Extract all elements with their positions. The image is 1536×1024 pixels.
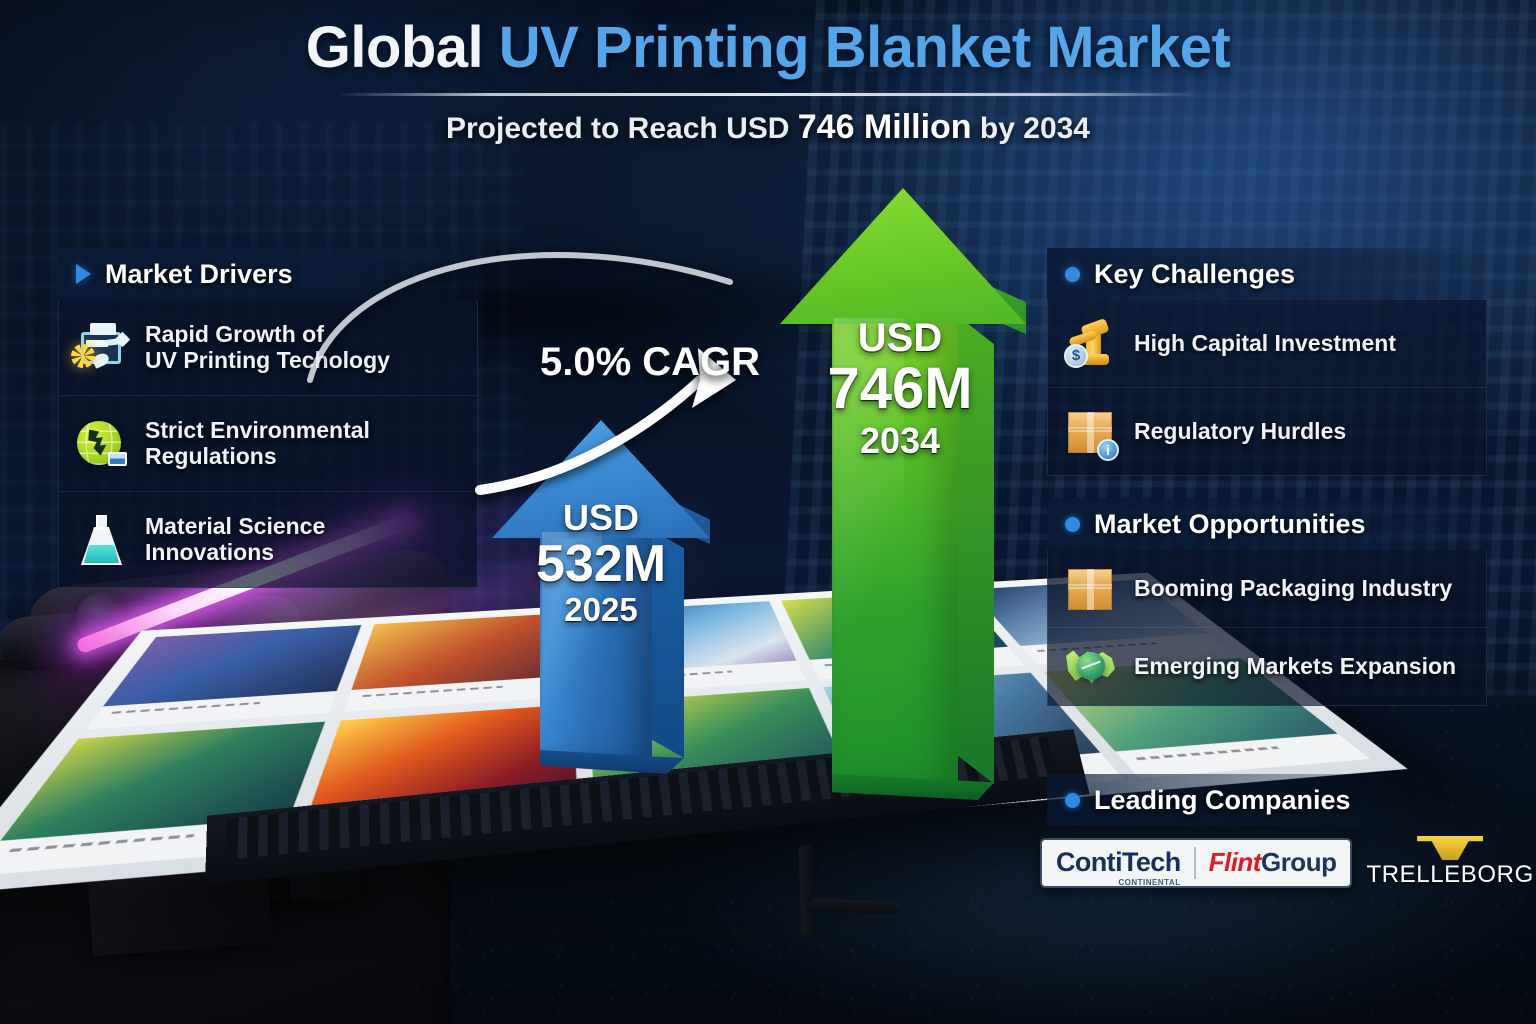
- challenge-label-1: High Capital Investment: [1134, 331, 1396, 357]
- driver-line-1a: Rapid Growth of: [145, 321, 324, 347]
- globe-icon: [73, 416, 129, 472]
- world-map-icon: [1062, 639, 1118, 695]
- challenge-row-2[interactable]: i Regulatory Hurdles: [1048, 388, 1486, 476]
- contitech-logo: ContiTech CONTINENTAL: [1056, 847, 1181, 878]
- cagr-label: 5.0% CAGR: [540, 340, 760, 385]
- cagr-value: 5.0%: [540, 340, 631, 384]
- market-opportunities-title: Market Opportunities: [1094, 509, 1366, 540]
- driver-line-2b: Regulations: [145, 443, 277, 469]
- dot-bullet-icon: [1065, 267, 1080, 282]
- title-accent: UV Printing Blanket Market: [499, 15, 1230, 80]
- driver-label-3: Material Science Innovations: [145, 514, 325, 566]
- panel-key-challenges: $ High Capital Investment i Regulatory H…: [1047, 300, 1487, 476]
- bar-2034-year: 2034: [800, 421, 1000, 461]
- panel-header-market-opportunities: Market Opportunities: [1047, 498, 1487, 550]
- trelleborg-crown-icon: [1417, 836, 1483, 860]
- contitech-tagline: CONTINENTAL: [1118, 878, 1180, 887]
- gavel-icon: $: [1062, 316, 1118, 372]
- title-plain: Global: [306, 15, 499, 80]
- bar-2034-value: 746M: [800, 358, 1000, 421]
- header: Global UV Printing Blanket Market Projec…: [0, 18, 1536, 147]
- panel-market-opportunities: Booming Packaging Industry Emerging Mark…: [1047, 550, 1487, 706]
- dot-bullet-icon: [1065, 517, 1080, 532]
- cagr-text: CAGR: [642, 340, 760, 384]
- contitech-name: ContiTech: [1056, 847, 1181, 877]
- bar-2025-value: 532M: [506, 536, 696, 592]
- bar-2025-label: USD 532M 2025: [506, 500, 696, 628]
- dot-bullet-icon: [1065, 793, 1080, 808]
- logo-divider: [1194, 847, 1196, 879]
- box-info-icon: i: [1062, 404, 1118, 460]
- logo-trelleborg[interactable]: TRELLEBORG: [1366, 836, 1533, 889]
- flint-word: Flint: [1209, 847, 1261, 877]
- package-box-icon: [1062, 561, 1118, 617]
- opportunity-label-2: Emerging Markets Expansion: [1134, 654, 1456, 680]
- driver-line-3b: Innovations: [145, 539, 274, 565]
- title-divider: [338, 93, 1198, 96]
- driver-line-3a: Material Science: [145, 513, 325, 539]
- opportunity-row-2[interactable]: Emerging Markets Expansion: [1048, 628, 1486, 706]
- trelleborg-name: TRELLEBORG: [1366, 861, 1533, 889]
- page-subtitle: Projected to Reach USD 746 Million by 20…: [0, 108, 1536, 147]
- printer-icon: [73, 320, 129, 376]
- panel-header-leading-companies: Leading Companies: [1047, 774, 1447, 826]
- bar-2025-year: 2025: [506, 592, 696, 628]
- company-logos: ContiTech CONTINENTAL FlintGroup TRELLEB…: [1040, 836, 1534, 889]
- subtitle-value: 746 Million: [798, 108, 972, 146]
- leading-companies-title: Leading Companies: [1094, 785, 1351, 816]
- subtitle-post: by 2034: [972, 112, 1090, 145]
- market-drivers-title: Market Drivers: [105, 259, 293, 290]
- logo-contitech-flintgroup[interactable]: ContiTech CONTINENTAL FlintGroup: [1040, 838, 1352, 888]
- key-challenges-title: Key Challenges: [1094, 259, 1295, 290]
- flask-icon: [73, 512, 129, 568]
- triangle-bullet-icon: [76, 264, 91, 284]
- bar-2034-currency: USD: [800, 318, 1000, 358]
- panel-header-key-challenges: Key Challenges: [1047, 248, 1487, 300]
- opportunity-row-1[interactable]: Booming Packaging Industry: [1048, 550, 1486, 628]
- opportunity-label-1: Booming Packaging Industry: [1134, 576, 1452, 602]
- infographic-canvas: Global UV Printing Blanket Market Projec…: [0, 0, 1536, 1024]
- bar-2025-currency: USD: [506, 500, 696, 536]
- subtitle-pre: Projected to Reach USD: [446, 112, 798, 145]
- challenge-label-2: Regulatory Hurdles: [1134, 419, 1346, 445]
- group-word: Group: [1261, 847, 1337, 877]
- bar-2034-label: USD 746M 2034: [800, 318, 1000, 460]
- challenge-row-1[interactable]: $ High Capital Investment: [1048, 300, 1486, 388]
- cagr-curve-line: [480, 380, 700, 490]
- flintgroup-logo: FlintGroup: [1209, 847, 1337, 878]
- page-title: Global UV Printing Blanket Market: [0, 18, 1536, 79]
